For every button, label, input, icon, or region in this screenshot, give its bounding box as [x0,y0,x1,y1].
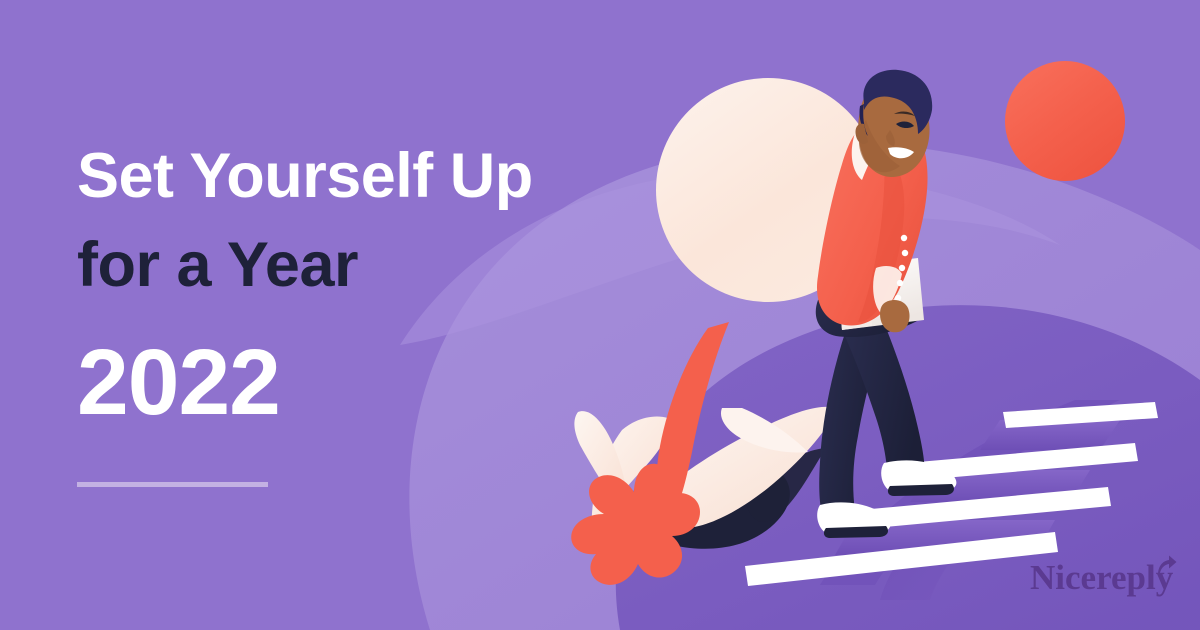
divider-rule [77,482,268,487]
headline-line-1: Set Yourself Up [77,132,697,221]
person-figure [816,70,957,538]
headline-block: Set Yourself Up for a Year 2022 [77,132,697,429]
promo-banner: Set Yourself Up for a Year 2022 Nicerepl… [0,0,1200,630]
headline-line-2: for a Year [77,221,697,310]
nicereply-logo[interactable]: Nicereply [1030,556,1180,604]
year-label: 2022 [77,336,697,429]
shoe-back [817,502,890,538]
reply-arrow-icon [1152,554,1178,580]
